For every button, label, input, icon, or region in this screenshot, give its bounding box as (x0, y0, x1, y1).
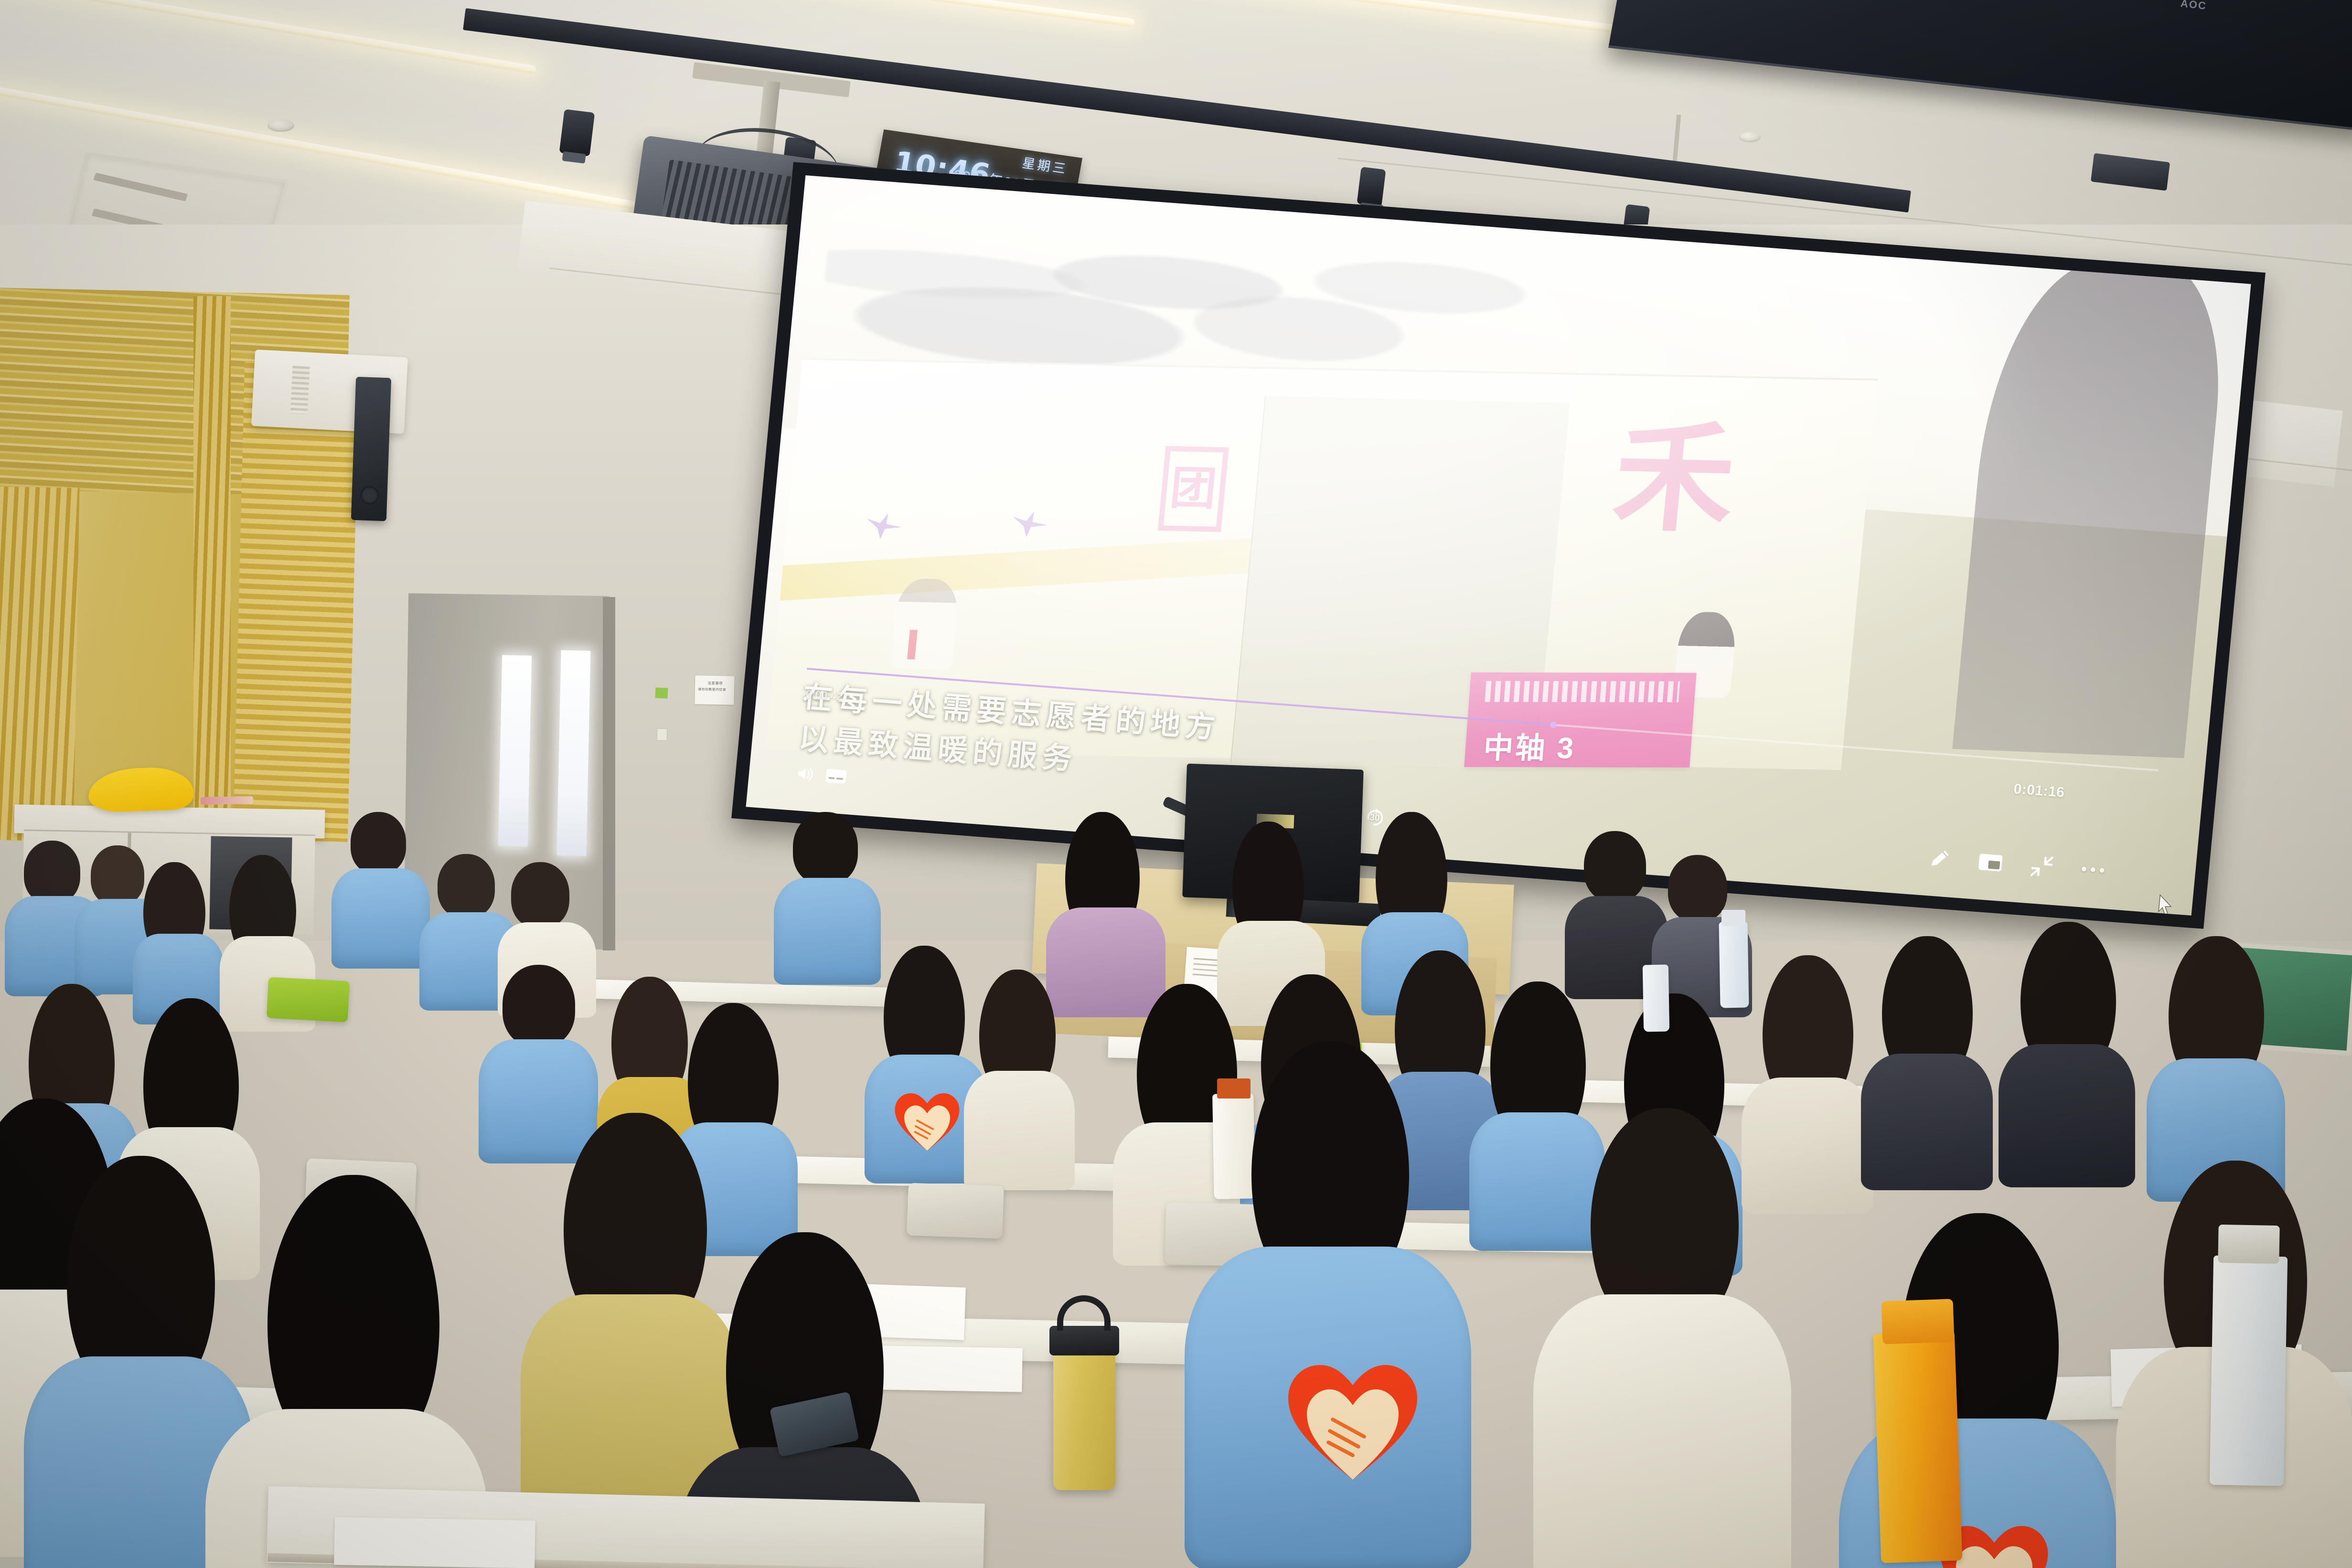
smoke-detector-icon (267, 119, 294, 132)
subtitles-icon[interactable] (824, 768, 848, 785)
projection-screen-frame: 团 禾 中轴 3 在每一处需要志愿者的地方 以最致温暖的服务 0:00:42 0… (731, 162, 2266, 929)
skip-forward-label: 30 (1364, 812, 1386, 824)
more-options-icon[interactable]: ••• (2081, 866, 2108, 875)
video-duration: 0:01:16 (2013, 781, 2065, 801)
tea-bottle (2210, 1256, 2288, 1486)
chair-back (267, 977, 350, 1023)
notice-body: 请勿在教室内饮食 (698, 687, 732, 694)
bottle-cap (1881, 1299, 1954, 1344)
pencil-icon[interactable] (1927, 847, 1951, 871)
cabinet-items (201, 796, 253, 805)
travel-tumbler (1053, 1347, 1115, 1490)
wood-vertical-slats (0, 486, 79, 841)
wall-green-tag (655, 688, 668, 699)
video-banner-header-text (1485, 681, 1680, 702)
tumbler-handle[interactable] (1057, 1295, 1111, 1331)
video-stamp-char: 团 (1168, 466, 1219, 512)
video-controls-left (795, 765, 848, 786)
video-large-character: 禾 (1608, 418, 1739, 540)
pip-icon[interactable] (1977, 852, 2004, 873)
water-bottle (1643, 965, 1669, 1032)
track-light-head (559, 109, 595, 156)
volunteer-logo-icon (891, 1089, 963, 1152)
water-bottle (1719, 921, 1749, 1008)
wall-mounted-speaker (351, 377, 391, 521)
wall-notice-sign: 注意事项 请勿在教室内饮食 (695, 675, 734, 704)
video-controls-right: ••• (1927, 847, 2109, 883)
wood-slat-acoustic-panel (233, 362, 359, 842)
chair-back (907, 1183, 1004, 1239)
paper-handout (878, 1345, 1023, 1392)
bottle-cap (1721, 910, 1745, 926)
bottle-cap (1217, 1078, 1251, 1099)
track-light-head (1357, 167, 1386, 207)
orange-juice-bottle (1873, 1331, 1963, 1563)
video-seal-stamp: 团 (1158, 446, 1229, 532)
door-frame (603, 597, 615, 950)
skip-forward-30-icon[interactable]: 30 (1363, 806, 1386, 828)
tv-brand-label: AOC (2180, 0, 2207, 12)
door-vision-panel (557, 650, 591, 856)
water-bottle (1212, 1093, 1255, 1199)
mouse-cursor-icon (2156, 893, 2174, 916)
bottle-cap (2218, 1225, 2279, 1264)
door-vision-panel (498, 655, 532, 846)
wall-socket (657, 728, 668, 741)
projection-screen-surface[interactable]: 团 禾 中轴 3 在每一处需要志愿者的地方 以最致温暖的服务 0:00:42 0… (746, 175, 2251, 916)
smoke-detector-icon (1739, 132, 1761, 142)
volunteer-logo-icon (1281, 1356, 1424, 1483)
wood-column (193, 296, 231, 841)
notice-title: 注意事项 (698, 680, 732, 687)
volume-icon[interactable] (795, 765, 815, 783)
paper-handout (334, 1517, 535, 1568)
lecture-hall-photo: AOC 星期三 10:46 2024年09月11日 注意事项 请勿在教室内饮食 (0, 0, 2352, 1568)
exit-fullscreen-icon[interactable] (2030, 855, 2054, 878)
